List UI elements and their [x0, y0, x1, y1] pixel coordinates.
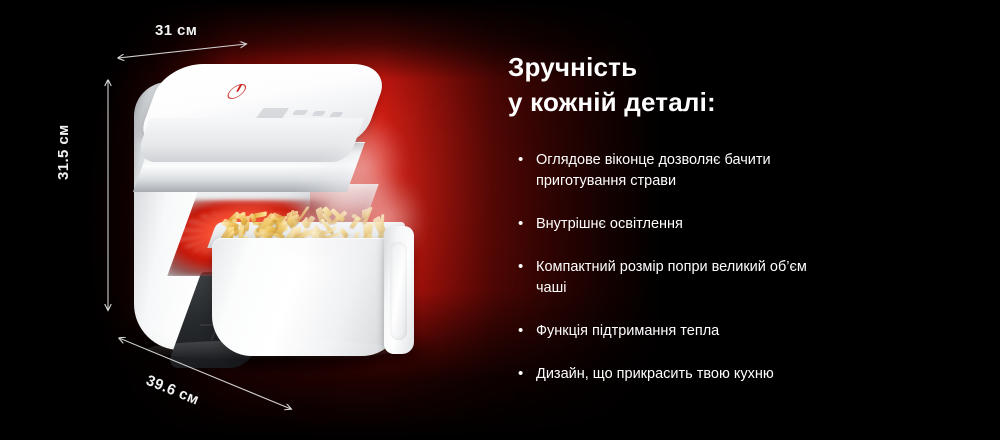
- feature-text-panel: Зручність у кожній деталі: Оглядове віко…: [508, 50, 938, 407]
- promo-banner: Tefal EASY FRY ● TEMPERATURE: [0, 0, 1000, 440]
- list-item: Функція підтримання тепла: [508, 321, 838, 342]
- fryer-handle-grip: [390, 242, 407, 340]
- fry-piece: [339, 227, 349, 238]
- list-item: Внутрішнє освітлення: [508, 214, 838, 235]
- power-indicator-icon: [224, 83, 249, 100]
- dimension-label-width: 31 см: [155, 22, 197, 39]
- list-item: Оглядове віконце дозволяє бачити приготу…: [508, 150, 838, 192]
- heading-line-2: у кожній деталі:: [508, 87, 716, 117]
- list-item: Дизайн, що прикрасить твою кухню: [508, 364, 838, 385]
- dimension-label-height: 31.5 см: [55, 124, 72, 180]
- control-button-3-icon: [329, 112, 344, 117]
- list-item: Компактний розмір попри великий об’єм ча…: [508, 257, 838, 299]
- fryer-base-rim: [146, 340, 396, 360]
- product-image-air-fryer: Tefal EASY FRY ● TEMPERATURE: [128, 58, 438, 368]
- control-button-1-icon: [292, 110, 309, 115]
- fryer-drawer: [212, 238, 402, 356]
- fryer-lid-front-face: [134, 118, 364, 162]
- control-button-2-icon: [311, 111, 326, 116]
- feature-list: Оглядове віконце дозволяє бачити приготу…: [508, 150, 938, 385]
- heading-line-1: Зручність: [508, 52, 637, 82]
- fry-piece: [362, 208, 369, 219]
- panel-heading: Зручність у кожній деталі:: [508, 50, 938, 120]
